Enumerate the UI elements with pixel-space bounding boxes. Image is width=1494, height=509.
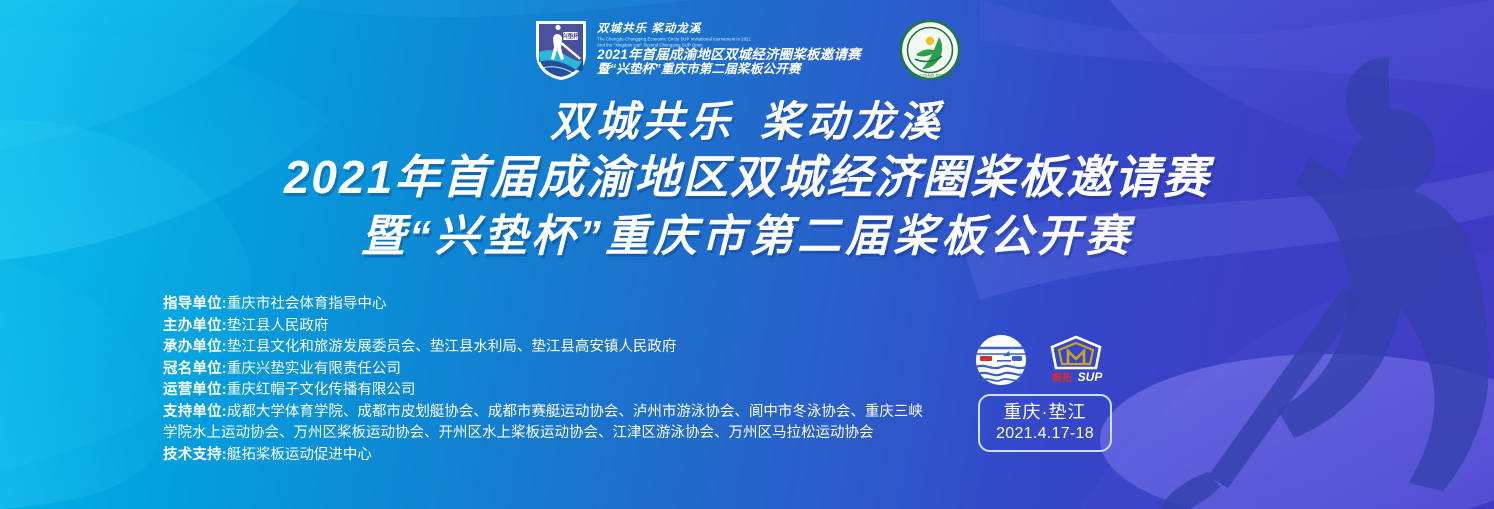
credit-label: 运营单位: [163,382,227,398]
tingtuo-sup-logo-icon: 艇拓 SUP [1043,334,1109,386]
paddle-silhouette [1159,288,1363,509]
event-logo-en-line1: The Chengdu-Chongqing Economic Circle SU… [597,37,861,42]
credits-block: 指导单位:重庆市社会体育指导中心 主办单位:垫江县人民政府 承办单位:垫江县文化… [163,294,923,466]
event-logo-text: 双城共乐 桨动龙溪 The Chengdu-Chongqing Economic… [597,24,861,77]
svg-text:SUP: SUP [1078,370,1104,384]
event-logo-title-line2: 暨“兴垫杯”重庆市第二届桨板公开赛 [597,63,861,76]
credit-label: 主办单位: [163,318,227,334]
credit-row: 运营单位:重庆红帽子文化传播有限公司 [163,380,923,402]
svg-text:CHONGQING SPORTS: CHONGQING SPORTS [906,73,953,78]
credit-row: 技术支持:艇拓桨板运动促进中心 [163,445,923,467]
headline-block: 双城共乐桨动龙溪 2021年首届成渝地区双城经济圈桨板邀请赛 暨“兴垫杯”重庆市… [0,98,1494,264]
headline-line-3: 暨“兴垫杯”重庆市第二届桨板公开赛 [0,209,1494,264]
event-shield-icon: 兴垫杯 [533,18,589,82]
credit-row: 主办单位:垫江县人民政府 [163,316,923,338]
credit-row: 冠名单位:重庆兴垫实业有限责任公司 [163,359,923,381]
credit-value: 成都大学体育学院、成都市皮划艇协会、成都市赛艇运动协会、泸州市游泳协会、阆中市冬… [163,404,923,442]
credit-value: 重庆市社会体育指导中心 [227,296,387,312]
sports-bureau-emblem-icon: CHONGQING SPORTS [899,19,961,81]
credit-value: 重庆兴垫实业有限责任公司 [227,361,401,377]
credit-label: 支持单位: [163,404,227,420]
credit-label: 指导单位: [163,296,227,312]
event-logo-slogan: 双城共乐 桨动龙溪 [597,24,861,36]
headline-slogan-b: 桨动龙溪 [760,98,944,145]
logo-row: 兴垫杯 双城共乐 桨动龙溪 The Chengdu-Chongqing Econ… [0,18,1494,82]
svg-text:艇拓: 艇拓 [1051,371,1072,384]
event-poster-banner: 兴垫杯 双城共乐 桨动龙溪 The Chengdu-Chongqing Econ… [0,0,1494,509]
credit-value: 重庆红帽子文化传播有限公司 [227,382,416,398]
credit-row: 指导单位:重庆市社会体育指导中心 [163,294,923,316]
credit-row: 承办单位:垫江县文化和旅游发展委员会、垫江县水利局、垫江县高安镇人民政府 [163,337,923,359]
headline-line-2: 2021年首届成渝地区双城经济圈桨板邀请赛 [0,149,1494,207]
event-logo-en-line2: And the "Xingdian cup" Second Chongqing … [597,43,861,48]
credit-label: 冠名单位: [163,361,227,377]
credit-value: 垫江县人民政府 [227,318,329,334]
badge-dates: 2021.4.17-18 [996,425,1094,443]
credit-value: 垫江县文化和旅游发展委员会、垫江县水利局、垫江县高安镇人民政府 [227,339,677,355]
credit-label: 技术支持: [163,447,227,463]
sponsor-logo-group: 艇拓 SUP [975,334,1109,386]
hongmaozi-globe-logo-icon [975,334,1027,386]
svg-text:兴垫杯: 兴垫杯 [563,32,580,40]
event-logo-title-line1: 2021年首届成渝地区双城经济圈桨板邀请赛 [597,48,861,62]
event-logo: 兴垫杯 双城共乐 桨动龙溪 The Chengdu-Chongqing Econ… [533,18,861,82]
credit-row: 支持单位:成都大学体育学院、成都市皮划艇协会、成都市赛艇运动协会、泸州市游泳协会… [163,402,923,445]
credit-value: 艇拓桨板运动促进中心 [227,447,372,463]
credit-label: 承办单位: [163,339,227,355]
headline-line-1: 双城共乐桨动龙溪 [0,98,1494,145]
badge-city: 重庆·垫江 [1004,403,1087,423]
headline-slogan-a: 双城共乐 [550,98,734,145]
date-location-badge: 重庆·垫江 2021.4.17-18 [978,394,1112,452]
